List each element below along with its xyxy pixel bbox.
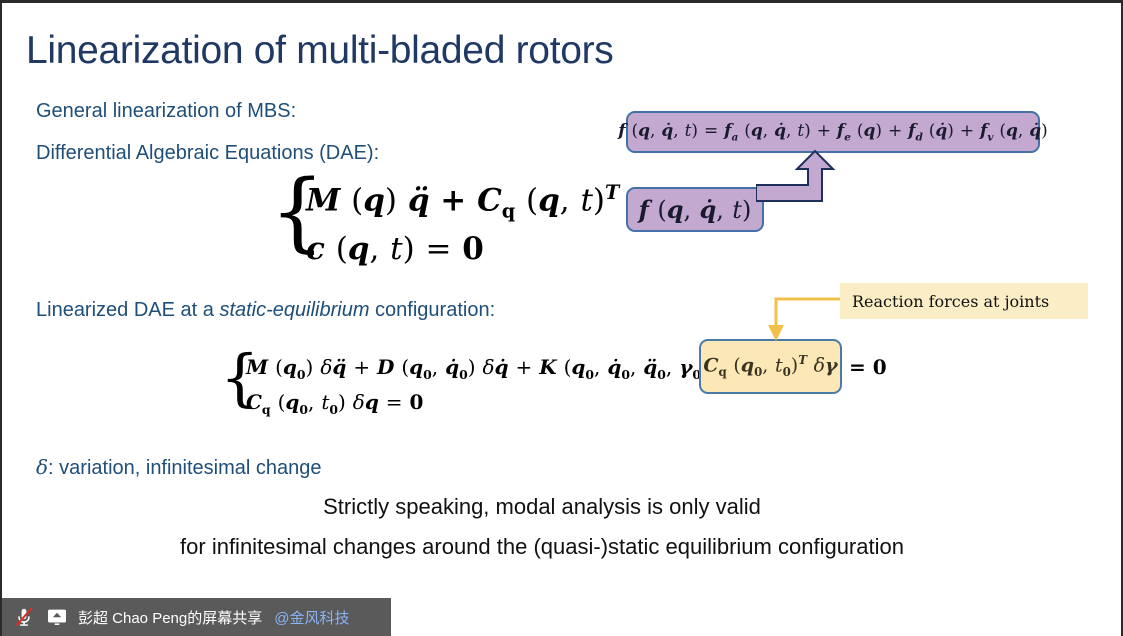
dae-equation-row-2: c (q, t) = 0 bbox=[306, 231, 484, 267]
subhead-linearized-dae: Linearized DAE at a static-equilibrium c… bbox=[36, 299, 495, 322]
taskbar-empty-area bbox=[391, 598, 1123, 636]
purple-elbow-arrow-icon bbox=[756, 149, 842, 215]
force-decomposition-expression: f (q, q̇, t) = fa (q, q̇, t) + fe (q) + … bbox=[618, 121, 1048, 143]
presentation-slide: Linearization of multi-bladed rotors Gen… bbox=[0, 0, 1123, 636]
highlight-box-force-vector: f (q, q̇, t) bbox=[626, 187, 764, 232]
linearized-italic-term: static-equilibrium bbox=[219, 299, 369, 321]
force-vector-expression: f (q, q̇, t) bbox=[639, 195, 752, 224]
screen-share-label: 彭超 Chao Peng的屏幕共享 bbox=[78, 607, 262, 628]
highlight-box-force-decomposition: f (q, q̇, t) = fa (q, q̇, t) + fe (q) + … bbox=[626, 111, 1040, 153]
delta-description: : variation, infinitesimal change bbox=[48, 457, 321, 479]
subhead-dae: Differential Algebraic Equations (DAE): bbox=[36, 142, 379, 165]
screen-share-handle: @金风科技 bbox=[274, 607, 349, 628]
conclusion-line-2: for infinitesimal changes around the (qu… bbox=[2, 534, 1082, 560]
linearized-equation-tail: = 0 bbox=[849, 355, 887, 379]
linearized-prefix: Linearized DAE at a bbox=[36, 299, 219, 321]
page-title: Linearization of multi-bladed rotors bbox=[26, 29, 614, 73]
linearized-equation-row-1: M (q0) δq̈ + D (q0, q̇0) δq̇ + K (q0, q̇… bbox=[246, 355, 766, 382]
delta-definition-note: δ: variation, infinitesimal change bbox=[36, 455, 322, 480]
linearized-suffix: configuration: bbox=[370, 299, 496, 321]
conclusion-line-1: Strictly speaking, modal analysis is onl… bbox=[2, 494, 1082, 520]
callout-reaction-forces: Reaction forces at joints bbox=[840, 283, 1088, 319]
highlight-box-constraint-jacobian: Cq (q0, t0)T δγ bbox=[699, 339, 842, 394]
constraint-jacobian-expression: Cq (q0, t0)T δγ bbox=[703, 353, 837, 379]
callout-arrow-icon bbox=[758, 291, 850, 343]
callout-reaction-label: Reaction forces at joints bbox=[852, 292, 1049, 311]
slide-content-area: Linearization of multi-bladed rotors Gen… bbox=[2, 3, 1123, 601]
delta-symbol: δ bbox=[36, 455, 48, 479]
linearized-equation-row-2: Cq (q0, t0) δq = 0 bbox=[246, 390, 423, 417]
subhead-general-linearization: General linearization of MBS: bbox=[36, 100, 296, 123]
microphone-muted-icon[interactable] bbox=[12, 606, 36, 628]
screen-share-icon[interactable] bbox=[45, 606, 69, 628]
screen-share-taskbar[interactable]: 彭超 Chao Peng的屏幕共享 @金风科技 bbox=[2, 598, 391, 636]
